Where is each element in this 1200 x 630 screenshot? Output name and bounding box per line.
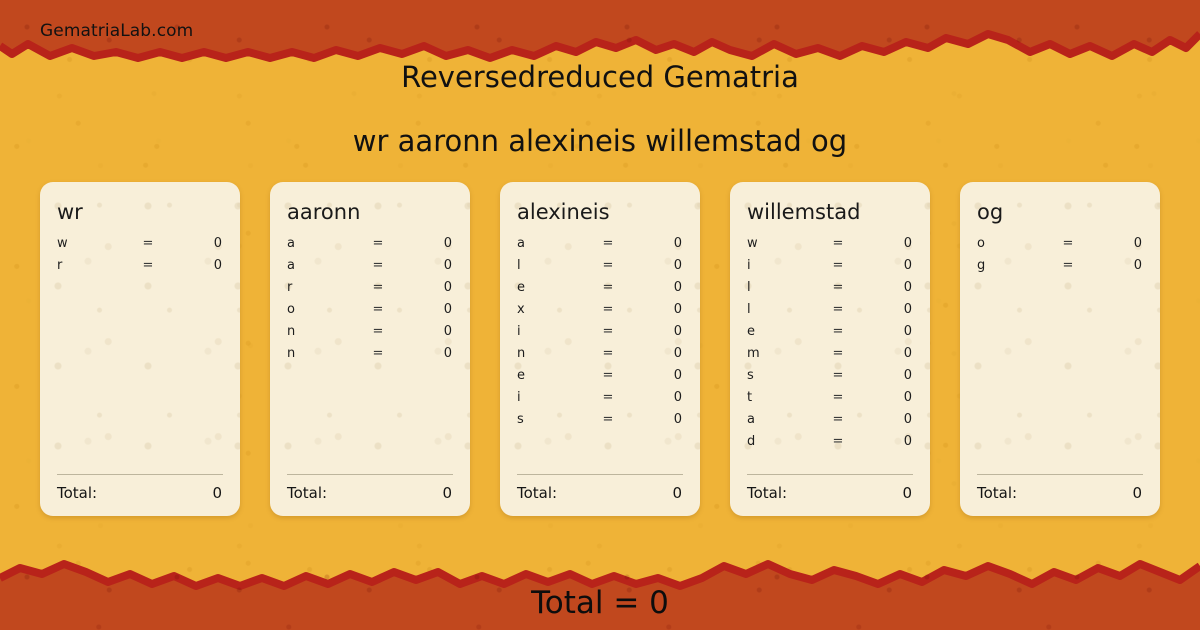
- card-word-title: wr: [57, 200, 225, 224]
- letter-value: 0: [391, 280, 455, 295]
- letter-row: w = 0: [745, 236, 915, 258]
- card-total-value: 0: [212, 484, 222, 502]
- word-card: aaronn a = 0 a = 0 r = 0 o: [270, 182, 470, 516]
- card-total-row: Total: 0: [745, 484, 915, 502]
- equals-sign: =: [595, 412, 621, 427]
- word-card: willemstad w = 0 i = 0 l = 0 l: [730, 182, 930, 516]
- letter-rows: a = 0 a = 0 r = 0 o = 0: [285, 236, 455, 474]
- card-word-title: alexineis: [517, 200, 685, 224]
- letter-value: 0: [391, 258, 455, 273]
- word-cards-row: wr w = 0 r = 0 Total: 0 aaronn: [40, 182, 1160, 516]
- word-card: alexineis a = 0 l = 0 e = 0 x: [500, 182, 700, 516]
- letter-value: 0: [621, 346, 685, 361]
- letter-value: 0: [851, 390, 915, 405]
- equals-sign: =: [825, 368, 851, 383]
- letter-value: 0: [621, 302, 685, 317]
- letter-value: 0: [621, 368, 685, 383]
- letter-row: n = 0: [285, 346, 455, 368]
- letter-row: a = 0: [285, 236, 455, 258]
- equals-sign: =: [825, 280, 851, 295]
- letter-value: 0: [621, 390, 685, 405]
- letter: r: [285, 280, 365, 295]
- equals-sign: =: [825, 258, 851, 273]
- letter: s: [745, 368, 825, 383]
- letter-value: 0: [851, 280, 915, 295]
- letter-rows: a = 0 l = 0 e = 0 x = 0: [515, 236, 685, 474]
- letter-row: a = 0: [285, 258, 455, 280]
- equals-sign: =: [365, 302, 391, 317]
- letter-row: r = 0: [55, 258, 225, 280]
- letter-value: 0: [621, 258, 685, 273]
- equals-sign: =: [595, 302, 621, 317]
- letter: l: [515, 258, 595, 273]
- card-total-label: Total:: [517, 484, 672, 502]
- page-title: Reversedreduced Gematria: [0, 60, 1200, 94]
- card-word-title: aaronn: [287, 200, 455, 224]
- letter-row: w = 0: [55, 236, 225, 258]
- equals-sign: =: [1055, 258, 1081, 273]
- equals-sign: =: [595, 346, 621, 361]
- letter-row: i = 0: [745, 258, 915, 280]
- letter-value: 0: [621, 412, 685, 427]
- card-divider: [57, 474, 223, 475]
- letter: a: [745, 412, 825, 427]
- equals-sign: =: [825, 412, 851, 427]
- equals-sign: =: [595, 324, 621, 339]
- letter: e: [515, 368, 595, 383]
- equals-sign: =: [825, 434, 851, 449]
- letter-value: 0: [391, 236, 455, 251]
- letter-row: e = 0: [515, 280, 685, 302]
- letter: n: [285, 346, 365, 361]
- equals-sign: =: [365, 236, 391, 251]
- letter-value: 0: [1081, 236, 1145, 251]
- letter-value: 0: [161, 236, 225, 251]
- letter: i: [515, 390, 595, 405]
- equals-sign: =: [595, 258, 621, 273]
- grand-total: Total = 0: [0, 585, 1200, 621]
- letter-rows: w = 0 r = 0: [55, 236, 225, 474]
- letter: w: [745, 236, 825, 251]
- letter-value: 0: [1081, 258, 1145, 273]
- card-total-row: Total: 0: [285, 484, 455, 502]
- equals-sign: =: [825, 346, 851, 361]
- word-card: og o = 0 g = 0 Total: 0: [960, 182, 1160, 516]
- letter-row: e = 0: [515, 368, 685, 390]
- equals-sign: =: [595, 368, 621, 383]
- equals-sign: =: [1055, 236, 1081, 251]
- letter: g: [975, 258, 1055, 273]
- card-total-label: Total:: [977, 484, 1132, 502]
- card-total-value: 0: [1132, 484, 1142, 502]
- letter-rows: o = 0 g = 0: [975, 236, 1145, 474]
- letter-row: s = 0: [515, 412, 685, 434]
- letter-value: 0: [851, 434, 915, 449]
- letter-value: 0: [391, 346, 455, 361]
- letter-value: 0: [161, 258, 225, 273]
- letter: i: [745, 258, 825, 273]
- card-divider: [747, 474, 913, 475]
- card-divider: [977, 474, 1143, 475]
- letter-value: 0: [851, 302, 915, 317]
- letter: l: [745, 302, 825, 317]
- letter: d: [745, 434, 825, 449]
- letter-value: 0: [391, 302, 455, 317]
- letter: a: [515, 236, 595, 251]
- site-logo[interactable]: GematriaLab.com: [40, 21, 193, 41]
- page-subtitle: wr aaronn alexineis willemstad og: [0, 124, 1200, 158]
- letter-row: t = 0: [745, 390, 915, 412]
- word-card: wr w = 0 r = 0 Total: 0: [40, 182, 240, 516]
- letter-value: 0: [621, 236, 685, 251]
- letter-row: r = 0: [285, 280, 455, 302]
- equals-sign: =: [135, 258, 161, 273]
- letter-value: 0: [851, 324, 915, 339]
- letter-value: 0: [621, 324, 685, 339]
- letter-row: g = 0: [975, 258, 1145, 280]
- letter-value: 0: [851, 346, 915, 361]
- letter: e: [745, 324, 825, 339]
- card-total-row: Total: 0: [975, 484, 1145, 502]
- letter-row: x = 0: [515, 302, 685, 324]
- equals-sign: =: [365, 258, 391, 273]
- letter-row: a = 0: [745, 412, 915, 434]
- letter: r: [55, 258, 135, 273]
- equals-sign: =: [595, 280, 621, 295]
- letter: o: [285, 302, 365, 317]
- card-divider: [287, 474, 453, 475]
- card-total-value: 0: [902, 484, 912, 502]
- card-word-title: willemstad: [747, 200, 915, 224]
- letter: i: [515, 324, 595, 339]
- letter-value: 0: [851, 368, 915, 383]
- equals-sign: =: [825, 302, 851, 317]
- letter-row: o = 0: [975, 236, 1145, 258]
- letter-value: 0: [851, 412, 915, 427]
- card-word-title: og: [977, 200, 1145, 224]
- letter-value: 0: [391, 324, 455, 339]
- equals-sign: =: [825, 324, 851, 339]
- letter-row: d = 0: [745, 434, 915, 456]
- letter-row: i = 0: [515, 324, 685, 346]
- letter-row: n = 0: [285, 324, 455, 346]
- letter: a: [285, 258, 365, 273]
- equals-sign: =: [365, 346, 391, 361]
- equals-sign: =: [595, 236, 621, 251]
- letter: n: [515, 346, 595, 361]
- letter: o: [975, 236, 1055, 251]
- letter-row: l = 0: [515, 258, 685, 280]
- equals-sign: =: [135, 236, 161, 251]
- letter-rows: w = 0 i = 0 l = 0 l = 0: [745, 236, 915, 474]
- card-total-row: Total: 0: [55, 484, 225, 502]
- letter-row: i = 0: [515, 390, 685, 412]
- letter-row: e = 0: [745, 324, 915, 346]
- letter-value: 0: [851, 236, 915, 251]
- letter-row: l = 0: [745, 280, 915, 302]
- letter: l: [745, 280, 825, 295]
- letter: a: [285, 236, 365, 251]
- letter: w: [55, 236, 135, 251]
- letter-value: 0: [851, 258, 915, 273]
- card-total-label: Total:: [287, 484, 442, 502]
- letter: s: [515, 412, 595, 427]
- card-total-value: 0: [442, 484, 452, 502]
- letter-row: o = 0: [285, 302, 455, 324]
- letter: x: [515, 302, 595, 317]
- letter: n: [285, 324, 365, 339]
- card-total-label: Total:: [57, 484, 212, 502]
- equals-sign: =: [595, 390, 621, 405]
- letter-value: 0: [621, 280, 685, 295]
- equals-sign: =: [365, 324, 391, 339]
- letter: m: [745, 346, 825, 361]
- letter: t: [745, 390, 825, 405]
- equals-sign: =: [365, 280, 391, 295]
- letter: e: [515, 280, 595, 295]
- card-total-value: 0: [672, 484, 682, 502]
- letter-row: m = 0: [745, 346, 915, 368]
- card-divider: [517, 474, 683, 475]
- card-total-label: Total:: [747, 484, 902, 502]
- card-total-row: Total: 0: [515, 484, 685, 502]
- letter-row: n = 0: [515, 346, 685, 368]
- letter-row: s = 0: [745, 368, 915, 390]
- equals-sign: =: [825, 390, 851, 405]
- letter-row: a = 0: [515, 236, 685, 258]
- letter-row: l = 0: [745, 302, 915, 324]
- gematria-poster: GematriaLab.com Reversedreduced Gematria…: [0, 0, 1200, 630]
- equals-sign: =: [825, 236, 851, 251]
